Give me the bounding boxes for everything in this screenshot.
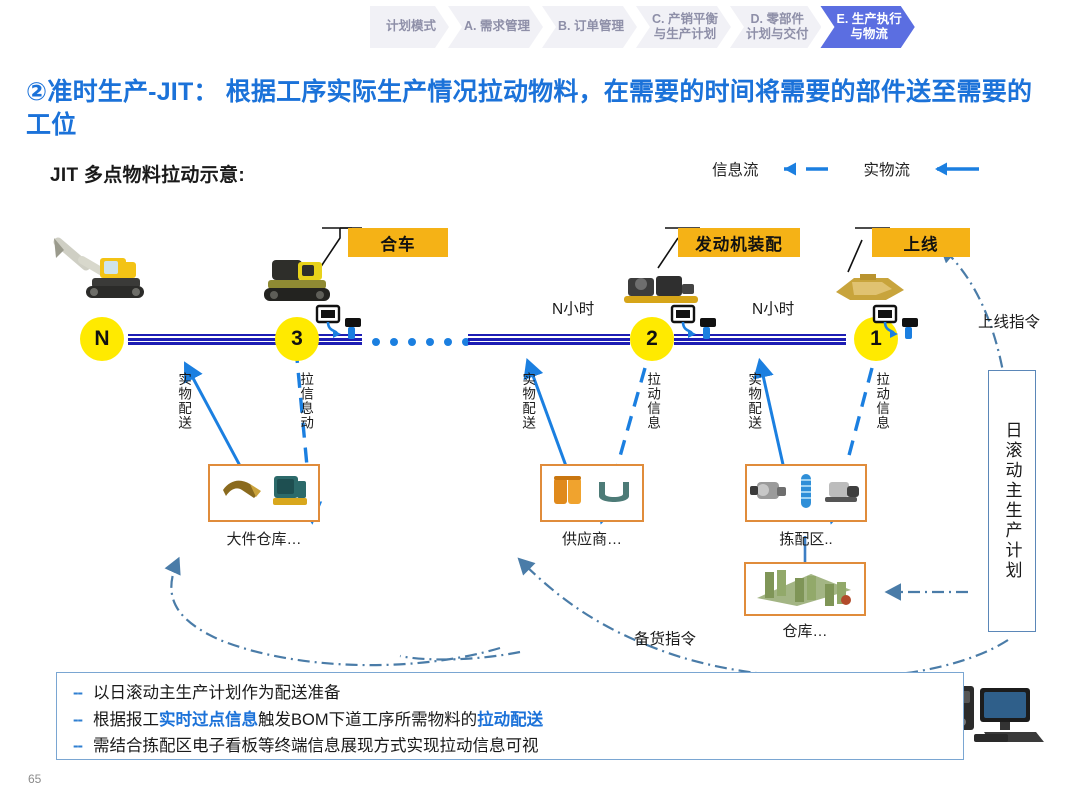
- breadcrumb-item-2[interactable]: B. 订单管理: [542, 6, 637, 48]
- section-subtitle: JIT 多点物料拉动示意:: [50, 160, 245, 187]
- breadcrumb-label: E. 生产执行: [836, 12, 901, 27]
- note-text-highlight: 实时过点信息: [159, 711, 258, 729]
- flow-label-physical-3: 实物配送: [176, 372, 191, 430]
- flow-label-information-2: 拉动信息: [645, 372, 660, 430]
- notes-box: -- 以日滚动主生产计划作为配送准备 -- 根据报工实时过点信息触发BOM下道工…: [56, 672, 964, 760]
- breadcrumb: 计划模式 A. 需求管理 B. 订单管理 C. 产销平衡 与生产计划 D. 零部…: [370, 6, 914, 48]
- note-text: 触发BOM下道工序所需物料的: [258, 711, 477, 729]
- excavator-large-icon: [52, 236, 152, 309]
- page-number: 65: [28, 772, 41, 786]
- gearbox-icon: [823, 476, 863, 511]
- note-row: -- 根据报工实时过点信息触发BOM下道工序所需物料的拉动配送: [73, 707, 963, 734]
- note-text: 根据报工: [93, 711, 159, 729]
- breadcrumb-item-5[interactable]: E. 生产执行 与物流: [820, 6, 914, 48]
- breadcrumb-item-0[interactable]: 计划模式: [370, 6, 449, 48]
- command-label-online: 上线指令: [978, 310, 1040, 332]
- bullet-dash: --: [73, 707, 82, 734]
- process-tag-label: 合车: [381, 231, 416, 255]
- storage-caption-large-parts-warehouse: 大件仓库…: [208, 528, 320, 549]
- warehouse-racks-icon: [751, 564, 859, 615]
- flow-label-physical-1: 实物配送: [746, 372, 761, 430]
- legend: 信息流 实物流: [712, 158, 981, 180]
- teal-part-icon: [595, 476, 635, 511]
- legend-label: 信息流: [712, 158, 759, 180]
- page-title: ②准时生产-JIT： 根据工序实际生产情况拉动物料，在需要的时间将需要的部件送至…: [26, 76, 1046, 142]
- bullet-dash: --: [73, 680, 82, 707]
- breadcrumb-item-4[interactable]: D. 零部件 计划与交付: [730, 6, 822, 48]
- conveyor-ellipsis: [372, 338, 470, 346]
- storage-box-warehouse[interactable]: [744, 562, 866, 616]
- takt-label-right: N小时: [752, 297, 794, 319]
- breadcrumb-label: A. 需求管理: [464, 19, 530, 34]
- breadcrumb-item-1[interactable]: A. 需求管理: [448, 6, 543, 48]
- legend-item-physical-flow: 实物流: [864, 158, 982, 180]
- flow-label-physical-2: 实物配送: [520, 372, 535, 430]
- command-label-stock-prep: 备货指令: [634, 627, 696, 649]
- dashed-arrow-icon: [768, 161, 830, 177]
- solid-arrow-icon: [919, 161, 981, 177]
- breadcrumb-label-2: 与生产计划: [654, 27, 717, 42]
- daily-rolling-master-plan-box[interactable]: 日滚动主生产计划: [988, 370, 1036, 632]
- conveyor-segment-3: [468, 334, 630, 345]
- plan-box-label: 日滚动主生产计划: [1000, 421, 1025, 581]
- storage-box-picking-area[interactable]: [745, 464, 867, 522]
- takt-label-left: N小时: [552, 297, 594, 319]
- conveyor-segment-1: [128, 334, 280, 345]
- station-node-N[interactable]: N: [80, 317, 124, 361]
- kanban-scanner-icon-1: [872, 304, 922, 357]
- process-tag-hecheng: 合车: [348, 228, 448, 257]
- storage-caption-supplier: 供应商…: [540, 528, 644, 549]
- station-label: 2: [646, 327, 658, 351]
- note-text: 需结合拣配区电子看板等终端信息展现方式实现拉动信息可视: [93, 733, 539, 760]
- note-row: -- 需结合拣配区电子看板等终端信息展现方式实现拉动信息可视: [73, 733, 963, 760]
- note-text-highlight: 拉动配送: [477, 711, 543, 729]
- excavator-arm-icon: [220, 474, 264, 513]
- blue-coil-icon: [796, 472, 816, 515]
- station-node-3[interactable]: 3: [275, 317, 319, 361]
- breadcrumb-label: B. 订单管理: [558, 19, 624, 34]
- storage-box-supplier[interactable]: [540, 464, 644, 522]
- station-node-2[interactable]: 2: [630, 317, 674, 361]
- breadcrumb-label-2: 与物流: [850, 27, 888, 42]
- kanban-scanner-icon-3: [315, 304, 365, 357]
- bullet-dash: --: [73, 733, 82, 760]
- kanban-scanner-icon-2: [670, 304, 720, 357]
- legend-label: 实物流: [864, 158, 911, 180]
- breadcrumb-item-3[interactable]: C. 产销平衡 与生产计划: [636, 6, 731, 48]
- note-text: 以日滚动主生产计划作为配送准备: [93, 680, 341, 707]
- note-text-wrapper: 根据报工实时过点信息触发BOM下道工序所需物料的拉动配送: [93, 707, 543, 734]
- engine-icon: [749, 475, 789, 512]
- process-tag-label: 发动机装配: [695, 231, 783, 255]
- breadcrumb-label: 计划模式: [386, 19, 436, 34]
- flow-label-information-1: 拉动信息: [874, 372, 889, 430]
- orange-tank-icon: [550, 472, 588, 515]
- excavator-cab-icon: [271, 473, 309, 514]
- storage-box-large-parts-warehouse[interactable]: [208, 464, 320, 522]
- station-label: 3: [291, 327, 303, 351]
- breadcrumb-label-2: 计划与交付: [746, 27, 809, 42]
- legend-item-information-flow: 信息流: [712, 158, 830, 180]
- slide-root: 计划模式 A. 需求管理 B. 订单管理 C. 产销平衡 与生产计划 D. 零部…: [0, 0, 1080, 810]
- process-tag-online: 上线: [872, 228, 970, 257]
- breadcrumb-label: C. 产销平衡: [652, 12, 718, 27]
- flow-label-information-3: 拉信息动: [298, 372, 313, 430]
- station-label: N: [94, 327, 109, 351]
- process-tag-engine-assembly: 发动机装配: [678, 228, 800, 257]
- process-tag-label: 上线: [904, 231, 939, 255]
- storage-caption-warehouse: 仓库…: [744, 620, 866, 641]
- breadcrumb-label: D. 零部件: [750, 12, 803, 27]
- storage-caption-picking-area: 拣配区..: [745, 528, 867, 549]
- note-row: -- 以日滚动主生产计划作为配送准备: [73, 680, 963, 707]
